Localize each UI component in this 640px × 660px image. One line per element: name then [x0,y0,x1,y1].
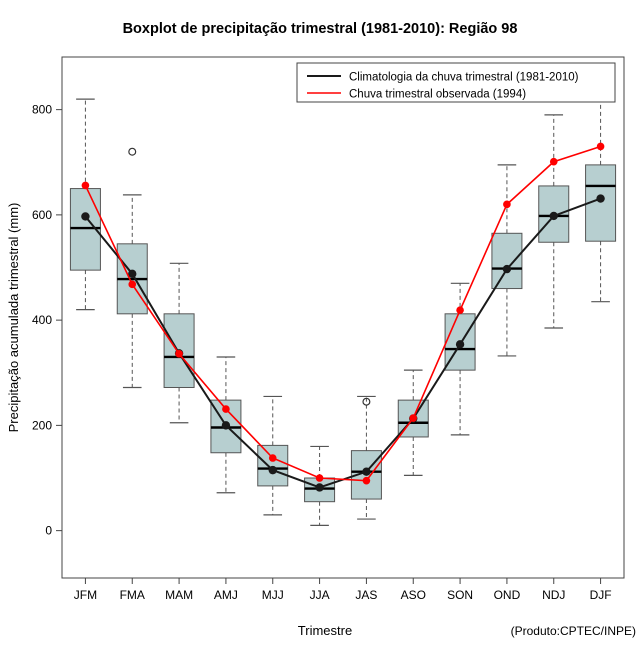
boxplot-FMA [117,148,147,387]
x-tick-label-AMJ: AMJ [214,588,238,602]
box-rect [258,445,288,486]
boxplot-NDJ [539,115,569,328]
series-climatologia [81,194,605,491]
series-point-2 [175,350,183,358]
series-point-1 [128,281,136,289]
series-point-4 [269,466,277,474]
series-point-10 [550,158,558,166]
series-point-0 [82,182,90,190]
series-point-7 [409,414,417,422]
boxplot-MAM [164,263,194,422]
x-tick-label-JAS: JAS [355,588,377,602]
x-tick-label-MAM: MAM [165,588,193,602]
boxplot-OND [492,165,522,356]
boxplot-DJF [586,86,616,302]
y-tick-label-800: 800 [32,103,52,117]
series-point-11 [597,143,605,151]
series-point-5 [315,483,323,491]
chart-canvas: 0200400600800Precipitação acumulada trim… [0,0,640,660]
x-axis-title: Trimestre [298,623,352,638]
box-rect [492,233,522,288]
y-axis-title: Precipitação acumulada trimestral (mm) [6,203,21,433]
x-tick-label-MJJ: MJJ [262,588,284,602]
chart-title: Boxplot de precipitação trimestral (1981… [123,21,518,37]
series-line [85,146,600,480]
legend: Climatologia da chuva trimestral (1981-2… [297,63,615,102]
x-tick-label-JJA: JJA [310,588,330,602]
x-tick-label-FMA: FMA [120,588,145,602]
outlier-point-0 [129,148,136,155]
y-tick-label-0: 0 [45,524,52,538]
x-tick-label-OND: OND [494,588,521,602]
y-tick-label-600: 600 [32,208,52,222]
legend-label-1: Chuva trimestral observada (1994) [349,89,526,101]
y-tick-label-400: 400 [32,313,52,327]
x-tick-label-ASO: ASO [401,588,426,602]
boxplot-JAS [351,396,381,519]
x-tick-label-NDJ: NDJ [542,588,565,602]
series-point-6 [363,477,371,485]
series-point-4 [269,454,277,462]
series-point-11 [596,194,604,202]
y-tick-label-200: 200 [32,418,52,432]
credit-label: (Produto:CPTEC/INPE) [511,624,636,638]
boxplot-chart: 0200400600800Precipitação acumulada trim… [0,0,640,660]
series-line [85,199,600,488]
legend-label-0: Climatologia da chuva trimestral (1981-2… [349,72,579,84]
series-observada [82,143,605,485]
boxplot-ASO [398,370,428,475]
series-point-3 [222,405,230,413]
series-point-3 [222,421,230,429]
series-point-5 [316,474,324,482]
series-point-8 [456,340,464,348]
x-tick-label-JFM: JFM [74,588,97,602]
x-tick-label-SON: SON [447,588,473,602]
series-point-9 [503,201,511,209]
series-point-9 [503,265,511,273]
boxplot-SON [445,283,475,435]
x-tick-label-DJF: DJF [590,588,612,602]
boxplot-JFM [70,99,100,310]
series-point-10 [550,212,558,220]
series-point-0 [81,212,89,220]
series-point-8 [456,306,464,314]
plot-frame [62,57,624,578]
series-point-6 [362,467,370,475]
